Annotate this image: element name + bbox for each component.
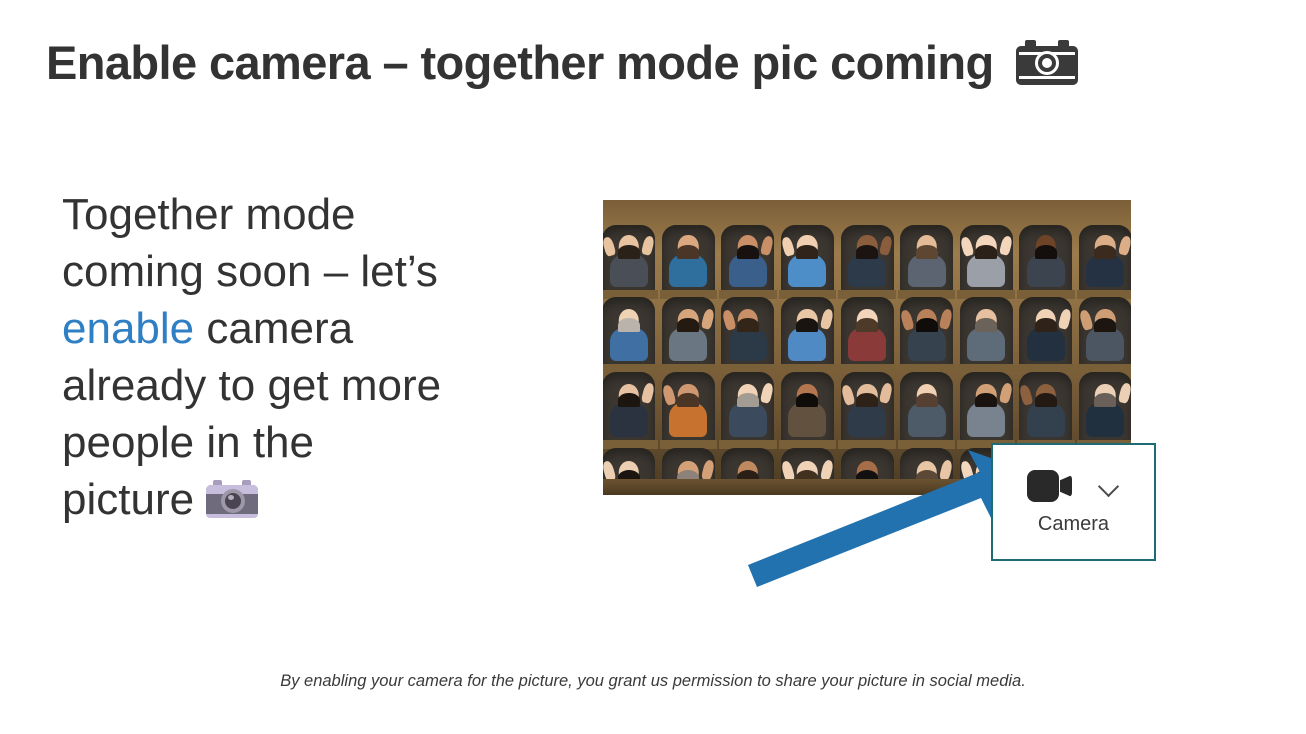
participant-figure [669, 296, 707, 361]
camera-button-label: Camera [1038, 513, 1109, 536]
participant-hair [1035, 318, 1057, 332]
participant-figure [967, 296, 1005, 361]
participant-hair [796, 318, 818, 332]
video-camera-icon[interactable] [1027, 470, 1072, 502]
participant-hair [1035, 393, 1057, 408]
participant-hair [677, 318, 699, 332]
camera-emoji [206, 480, 258, 520]
participant-figure [788, 296, 826, 361]
participant-hair [796, 393, 818, 408]
participant-figure [967, 370, 1005, 437]
chevron-down-icon[interactable] [1098, 475, 1120, 497]
participant-figure [1086, 296, 1124, 361]
participant-figure [848, 370, 886, 437]
participant-hair [618, 318, 640, 332]
body-accent-word: enable [62, 304, 194, 353]
participant-hair [737, 245, 759, 259]
camera-button[interactable]: Camera [991, 443, 1156, 561]
participant-figure [848, 296, 886, 361]
participant-hair [1035, 245, 1057, 259]
body-after-accent: camera [194, 304, 353, 353]
camera-button-icon-row [1027, 470, 1120, 502]
video-camera-icon-body [1027, 470, 1059, 502]
camera-emoji-bottom [206, 514, 258, 518]
participant-hair [975, 318, 997, 332]
participant-figure [908, 370, 946, 437]
participant-hair [856, 318, 878, 332]
participant-figure [729, 370, 767, 437]
participant-hair [737, 318, 759, 332]
camera-icon-lens-center [1042, 58, 1052, 68]
participant-hair [975, 393, 997, 408]
participant-hair [677, 393, 699, 408]
pointer-arrow [740, 440, 1030, 590]
participant-hair [677, 245, 699, 259]
body-line-4: already to get more [62, 361, 441, 410]
video-camera-icon-lens [1060, 475, 1072, 497]
participant-figure [1027, 296, 1065, 361]
body-paragraph: Together mode coming soon – let’s enable… [62, 186, 562, 528]
participant-hair [856, 393, 878, 408]
participant-hair [916, 245, 938, 259]
participant-figure [788, 370, 826, 437]
title-row: Enable camera – together mode pic coming [46, 38, 1078, 87]
participant-hair [796, 245, 818, 259]
participant-hair [618, 393, 640, 408]
participant-hair [916, 393, 938, 408]
participant-figure [1086, 370, 1124, 437]
participant-hair [916, 318, 938, 332]
participant-figure [610, 370, 648, 437]
camera-icon-stripe-bottom [1019, 76, 1075, 79]
body-line-5: people in the [62, 418, 314, 467]
participant-hair [618, 245, 640, 259]
page-title: Enable camera – together mode pic coming [46, 38, 994, 87]
camera-icon [1016, 40, 1078, 85]
participant-figure [908, 296, 946, 361]
participant-hair [737, 393, 759, 408]
participant-figure [729, 296, 767, 361]
participant-hair [975, 245, 997, 259]
body-line-6: picture [62, 475, 194, 524]
participant-hair [856, 245, 878, 259]
participant-hair [1094, 318, 1116, 332]
pointer-arrow-shape [748, 450, 1025, 587]
participant-figure [669, 370, 707, 437]
participant-hair [1094, 393, 1116, 408]
participant-figure [1027, 370, 1065, 437]
participant-figure [610, 296, 648, 361]
body-line-1: Together mode [62, 190, 356, 239]
participant-hair [1094, 245, 1116, 259]
presentation-slide: Enable camera – together mode pic coming… [0, 0, 1306, 734]
footer-note: By enabling your camera for the picture,… [0, 672, 1306, 691]
body-line-2: coming soon – let’s [62, 247, 438, 296]
